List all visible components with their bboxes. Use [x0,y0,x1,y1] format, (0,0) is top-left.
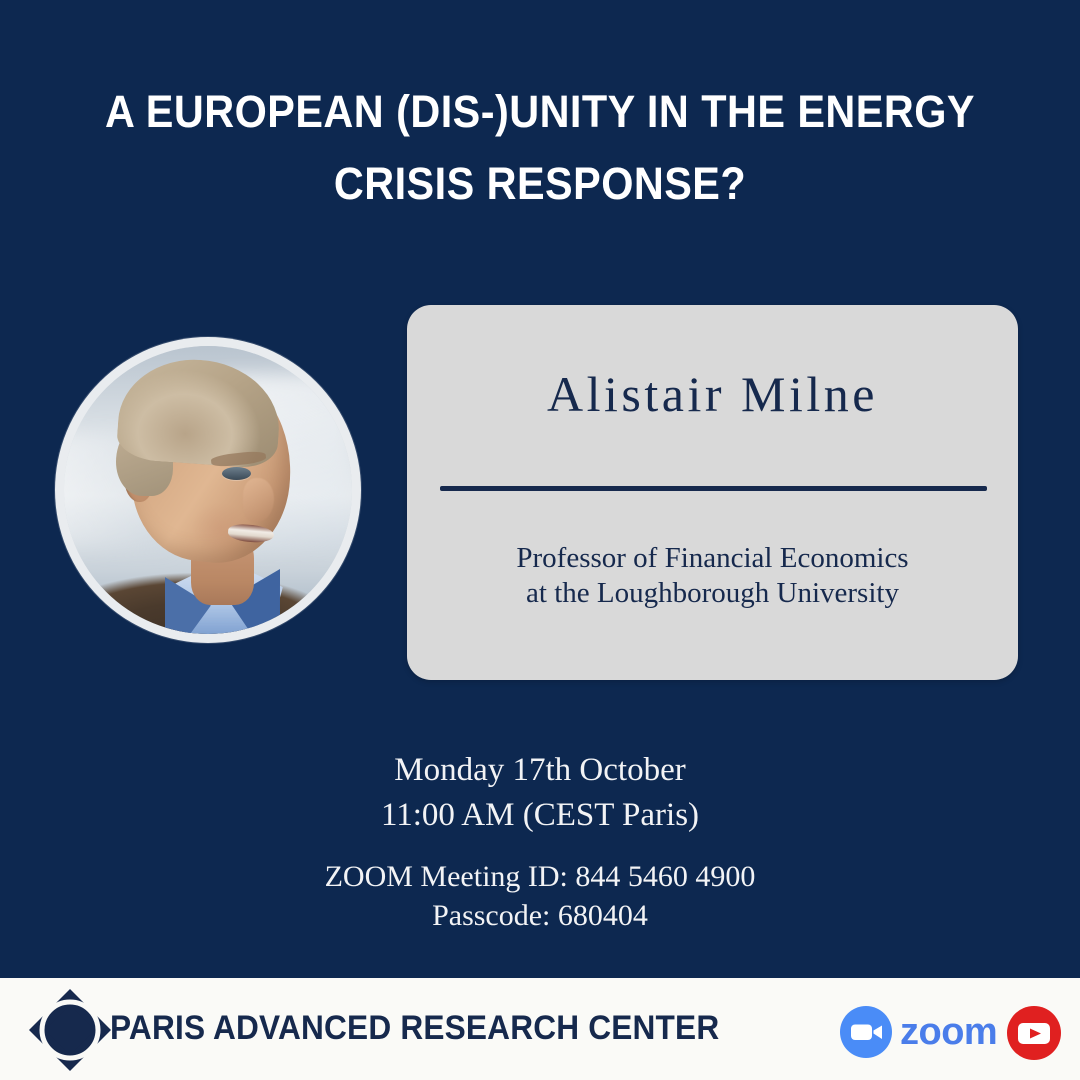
speaker-card: Alistair Milne Professor of Financial Ec… [407,305,1018,680]
speaker-role-line-1: Professor of Financial Economics [407,541,1018,576]
speaker-name: Alistair Milne [407,365,1018,423]
portrait-eye [222,467,251,480]
zoom-wordmark[interactable]: zoom [900,1011,997,1054]
youtube-play-icon[interactable] [1004,1003,1064,1063]
card-divider [440,486,987,491]
diamond-logo-icon [26,986,114,1074]
zoom-camera-icon[interactable] [838,1004,894,1060]
event-time: 11:00 AM (CEST Paris) [0,793,1080,838]
event-zoom-info: ZOOM Meeting ID: 844 5460 4900 Passcode:… [0,857,1080,935]
speaker-avatar [55,337,361,643]
title-line-1: A EUROPEAN (DIS-)UNITY IN THE ENERGY [43,76,1037,148]
event-datetime: Monday 17th October 11:00 AM (CEST Paris… [0,748,1080,838]
zoom-passcode: Passcode: 680404 [0,896,1080,935]
organization-name: PARIS ADVANCED RESEARCH CENTER [110,1009,719,1048]
page-title: A EUROPEAN (DIS-)UNITY IN THE ENERGY CRI… [0,76,1080,220]
event-details: Monday 17th October 11:00 AM (CEST Paris… [0,748,1080,935]
title-line-2: CRISIS RESPONSE? [43,148,1037,220]
event-date: Monday 17th October [0,748,1080,793]
webinar-poster: A EUROPEAN (DIS-)UNITY IN THE ENERGY CRI… [0,0,1080,1080]
speaker-role-line-2: at the Loughborough University [407,576,1018,611]
zoom-meeting-id: ZOOM Meeting ID: 844 5460 4900 [0,857,1080,896]
speaker-role: Professor of Financial Economics at the … [407,541,1018,611]
speaker-portrait-photo [64,346,352,634]
